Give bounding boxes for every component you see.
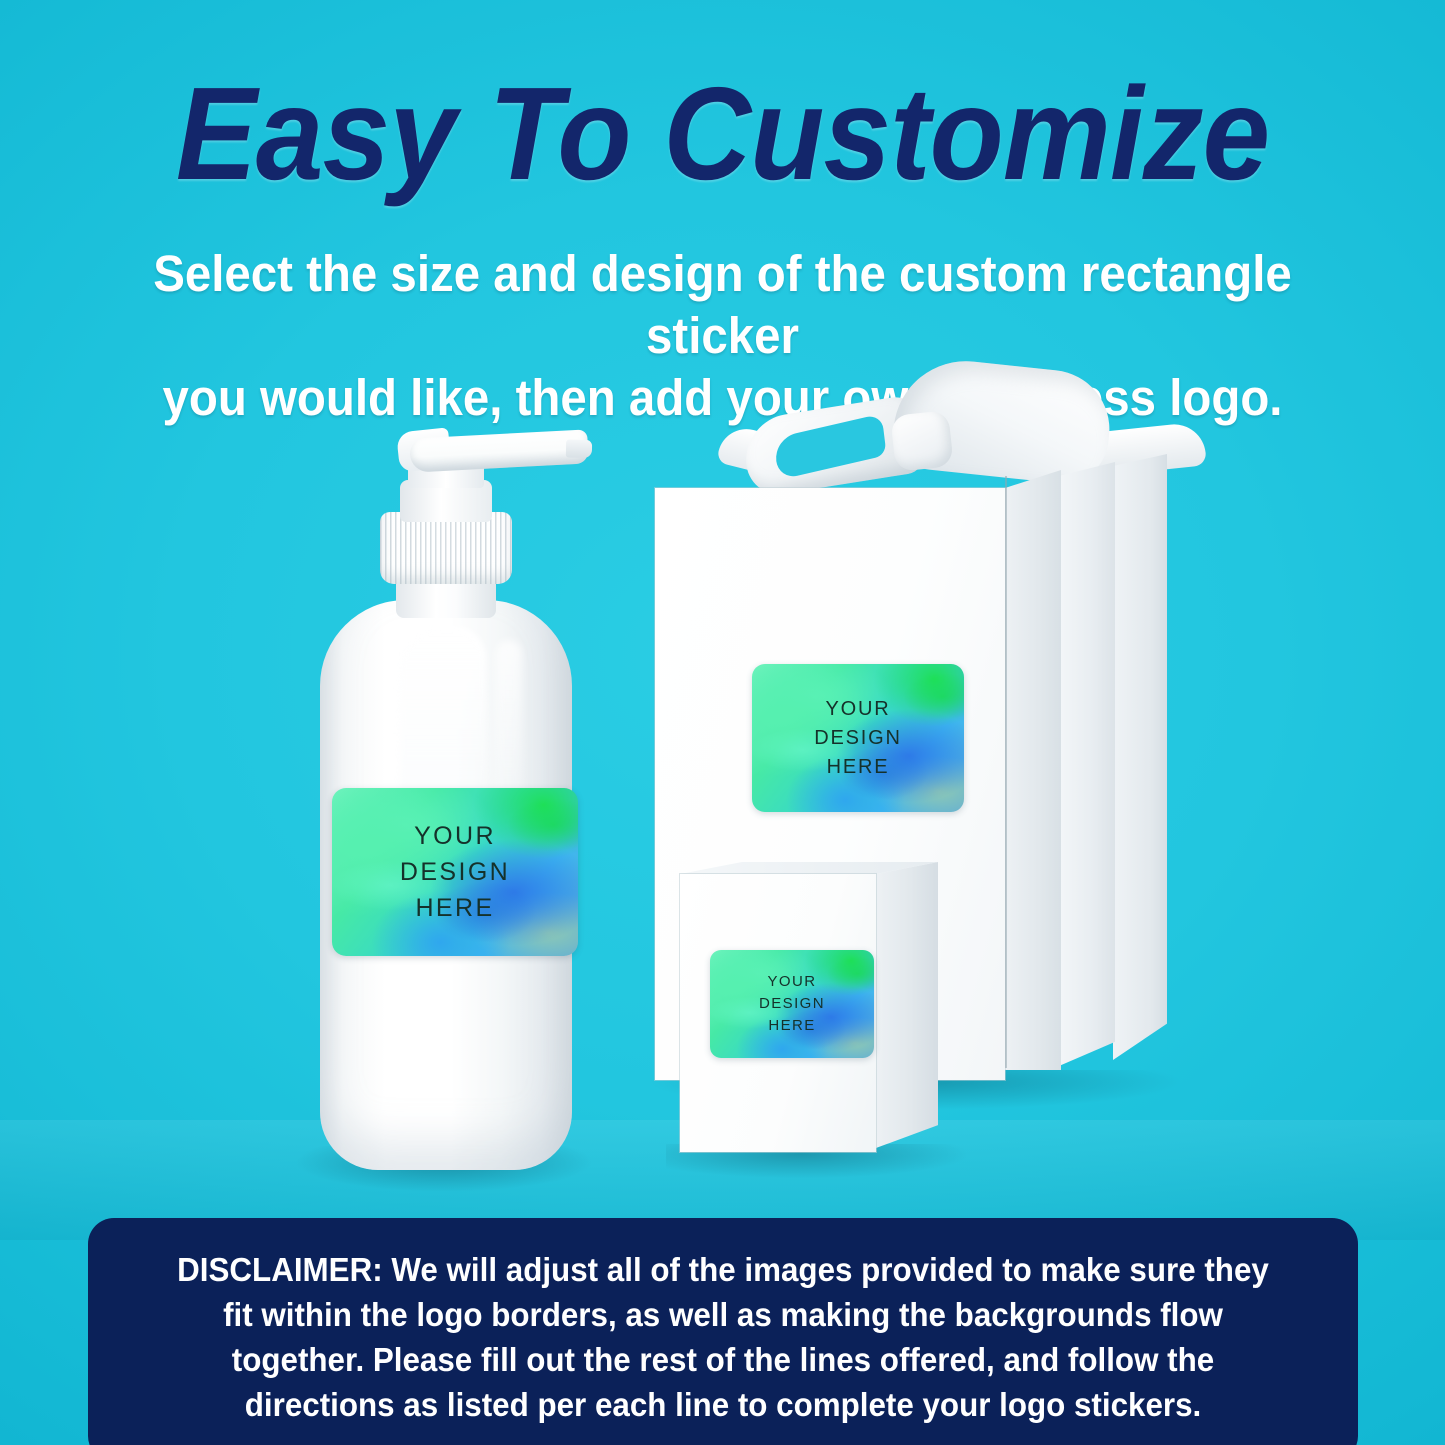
disclaimer-label: DISCLAIMER: [177,1251,383,1288]
sticker-line-3: HERE [768,1015,815,1037]
sticker-text: YOUR DESIGN HERE [710,950,874,1058]
sticker-text: YOUR DESIGN HERE [752,664,964,812]
disclaimer-text: DISCLAIMER: We will adjust all of the im… [163,1248,1282,1428]
gift-box-side-front [1005,470,1061,1070]
gift-box-side-mid [1059,462,1115,1066]
small-box-side-face [876,862,938,1148]
sticker-on-bottle[interactable]: YOUR DESIGN HERE [332,788,578,956]
sticker-line-2: DESIGN [814,724,901,753]
sticker-on-small-box[interactable]: YOUR DESIGN HERE [710,950,874,1058]
sticker-line-3: HERE [827,753,890,782]
promo-banner: Easy To Customize Select the size and de… [0,0,1445,1445]
gift-box-lid-seam [1005,476,1007,1068]
disclaimer-panel: DISCLAIMER: We will adjust all of the im… [88,1218,1358,1445]
sticker-text: YOUR DESIGN HERE [332,788,578,956]
sticker-line-2: DESIGN [400,854,510,890]
sticker-line-1: YOUR [768,971,817,993]
ribbon-knot [890,410,954,472]
sticker-line-1: YOUR [826,695,891,724]
sticker-line-3: HERE [415,890,494,926]
sticker-line-1: YOUR [414,818,496,854]
gift-box-side-back [1113,454,1167,1060]
sticker-line-2: DESIGN [759,993,825,1015]
sticker-on-gift-box[interactable]: YOUR DESIGN HERE [752,664,964,812]
bottle-ribbed-cap [380,512,512,584]
